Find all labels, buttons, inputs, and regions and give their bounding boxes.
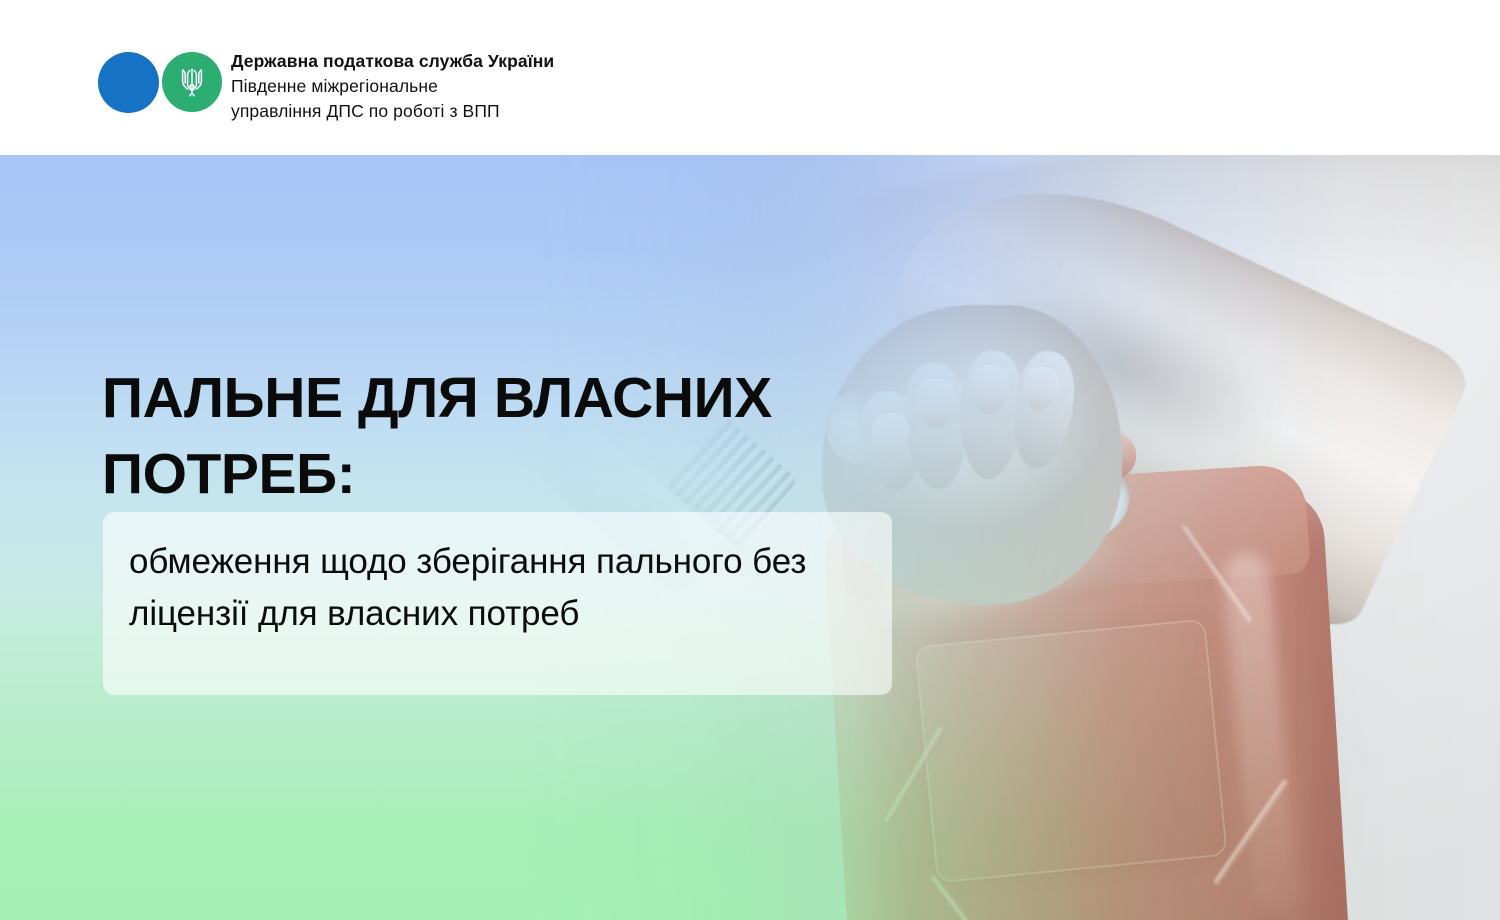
page-subtitle: обмеження щодо зберігання пального без л…	[129, 536, 892, 640]
logo-blue-circle	[98, 52, 159, 113]
agency-name-line-3: управління ДПС по роботі з ВПП	[231, 99, 554, 124]
subtitle-panel: обмеження щодо зберігання пального без л…	[103, 512, 892, 695]
page-header: Державна податкова служба України Півден…	[0, 0, 1500, 155]
agency-logo	[98, 52, 216, 114]
ukraine-trident-emblem-icon	[179, 66, 205, 98]
agency-name-block: Державна податкова служба України Півден…	[231, 49, 554, 124]
canister-rib-bottom-left	[928, 875, 1005, 920]
poster-canvas: Державна податкова служба України Півден…	[0, 0, 1500, 920]
agency-name-line-1: Державна податкова служба України	[231, 49, 554, 74]
agency-name-line-2: Південне міжрегіональне	[231, 74, 554, 99]
canister-center-panel	[914, 618, 1227, 883]
page-headline: ПАЛЬНЕ ДЛЯ ВЛАСНИХ ПОТРЕБ:	[102, 360, 862, 512]
logo-green-circle	[162, 52, 222, 112]
